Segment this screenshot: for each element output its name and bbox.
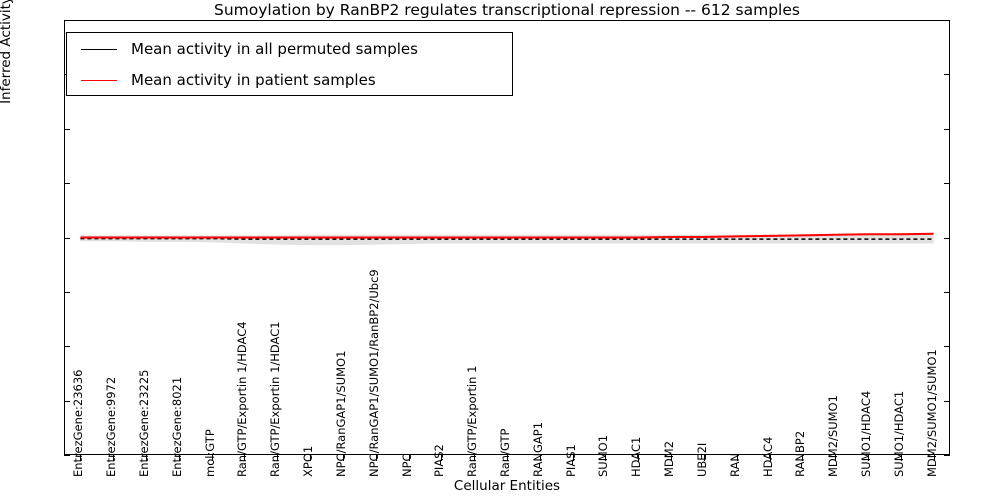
x-tick-label: NPC — [400, 453, 414, 477]
legend-label-patient: Mean activity in patient samples — [131, 71, 376, 89]
legend-swatch-permuted — [81, 49, 117, 50]
legend-item-permuted: Mean activity in all permuted samples — [67, 33, 512, 65]
matplotlib-figure: Sumoylation by RanBP2 regulates transcri… — [0, 0, 1000, 500]
chart-legend: Mean activity in all permuted samples Me… — [66, 32, 513, 96]
legend-label-permuted: Mean activity in all permuted samples — [131, 40, 418, 58]
x-tick-label: RAN — [728, 453, 742, 477]
legend-swatch-patient — [81, 80, 117, 81]
legend-item-patient: Mean activity in patient samples — [67, 64, 512, 96]
